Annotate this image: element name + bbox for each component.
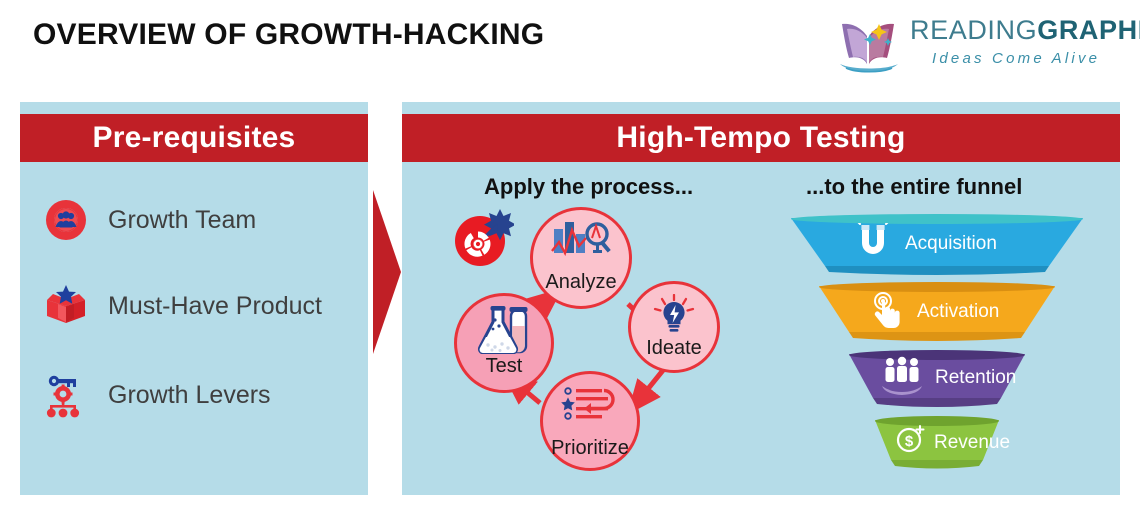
dollar-coin-icon: $ xyxy=(895,423,927,455)
reorder-list-star-icon xyxy=(561,384,619,424)
funnel-stage-label: Acquisition xyxy=(905,233,997,255)
cycle-node-test: Test xyxy=(454,293,554,393)
lightbulb-bolt-icon xyxy=(651,294,697,336)
list-item-label: Growth Levers xyxy=(108,381,271,410)
svg-text:$: $ xyxy=(905,433,914,450)
readingraphics-logo: READINGGRAPHICS Ideas Come Alive xyxy=(836,14,1118,76)
list-item: Growth Team xyxy=(42,196,256,244)
cycle-node-label: Test xyxy=(486,356,523,376)
apply-the-process-subheading: Apply the process... xyxy=(484,174,693,200)
bar-chart-magnifier-icon xyxy=(550,220,612,262)
cycle-node-prioritize: Prioritize xyxy=(540,371,640,471)
funnel-stage-acquisition: Acquisition xyxy=(787,214,1087,276)
growth-funnel: Acquisition Activation xyxy=(787,214,1087,479)
team-circular-arrow-icon xyxy=(42,196,90,244)
pre-requisites-heading: Pre-requisites xyxy=(20,114,368,162)
people-hand-icon xyxy=(881,356,923,396)
entire-funnel-subheading: ...to the entire funnel xyxy=(806,174,1022,200)
funnel-stage-label: Activation xyxy=(917,301,999,323)
funnel-stage-revenue: $ Revenue xyxy=(787,416,1087,470)
funnel-stage-label: Revenue xyxy=(934,432,1010,454)
cycle-node-label: Analyze xyxy=(545,272,616,292)
flask-test-tube-icon xyxy=(475,306,533,354)
growth-process-cycle: Analyze Ideate xyxy=(452,207,752,487)
high-tempo-testing-heading: High-Tempo Testing xyxy=(402,114,1120,162)
cycle-node-analyze: Analyze xyxy=(530,207,632,309)
list-item-label: Must-Have Product xyxy=(108,292,322,321)
cycle-node-ideate: Ideate xyxy=(628,281,720,373)
open-book-with-stars-logo-icon xyxy=(836,18,902,74)
click-hand-icon xyxy=(869,290,905,330)
page-title: OVERVIEW OF GROWTH-HACKING xyxy=(33,18,544,52)
list-item: Must-Have Product xyxy=(42,282,322,330)
funnel-stage-label: Retention xyxy=(935,367,1016,389)
list-item-label: Growth Team xyxy=(108,206,256,235)
cycle-node-label: Prioritize xyxy=(551,438,629,458)
key-hierarchy-icon xyxy=(42,371,90,419)
logo-tagline: Ideas Come Alive xyxy=(932,50,1100,67)
high-tempo-testing-panel: High-Tempo Testing Apply the process... … xyxy=(402,102,1120,495)
open-box-star-icon xyxy=(42,282,90,330)
funnel-stage-retention: Retention xyxy=(787,350,1087,408)
cycle-node-label: Ideate xyxy=(646,338,702,358)
logo-word-reading: READING xyxy=(910,15,1037,45)
logo-word-graphics: GRAPHICS xyxy=(1037,15,1140,45)
funnel-stage-activation: Activation xyxy=(787,282,1087,342)
infographic-canvas: OVERVIEW OF GROWTH-HACKING READINGGRAPHI… xyxy=(0,0,1140,518)
magnet-icon xyxy=(855,223,891,259)
pre-requisites-panel: Pre-requisites xyxy=(20,102,368,495)
right-pointing-arrow-icon xyxy=(372,188,402,356)
logo-wordmark: READINGGRAPHICS xyxy=(910,17,1140,44)
list-item: Growth Levers xyxy=(42,371,271,419)
